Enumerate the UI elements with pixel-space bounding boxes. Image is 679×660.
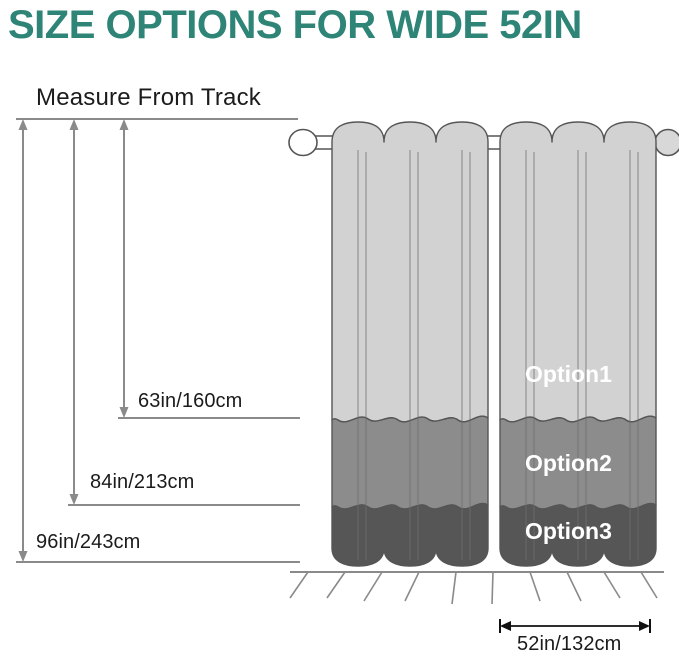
width-dimension-group [500, 619, 650, 633]
dimension-group [16, 119, 300, 562]
option2-label: Option2 [525, 450, 612, 477]
dimension-arrow-63 [120, 119, 129, 418]
rod-finial-left [289, 130, 317, 156]
option1-label: Option1 [525, 361, 612, 388]
curtain-panel-right [500, 122, 656, 566]
dimension-label-52in: 52in/132cm [517, 633, 621, 656]
floor-group [290, 572, 664, 604]
dimension-label-63in: 63in/160cm [138, 390, 242, 413]
size-options-diagram: SIZE OPTIONS FOR WIDE 52IN Measure From … [0, 0, 679, 660]
dimension-label-96in: 96in/243cm [36, 531, 140, 554]
floor-hatching [290, 572, 657, 604]
dimension-arrow-84 [70, 119, 79, 505]
dimension-label-84in: 84in/213cm [90, 471, 194, 494]
dimension-arrow-96 [19, 119, 28, 562]
option3-label: Option3 [525, 518, 612, 545]
curtain-panel-left [332, 122, 488, 566]
width-arrowhead-left [500, 621, 511, 631]
rod-finial-right [655, 130, 679, 156]
width-arrowhead-right [639, 621, 650, 631]
curtain-diagram-svg [0, 0, 679, 660]
